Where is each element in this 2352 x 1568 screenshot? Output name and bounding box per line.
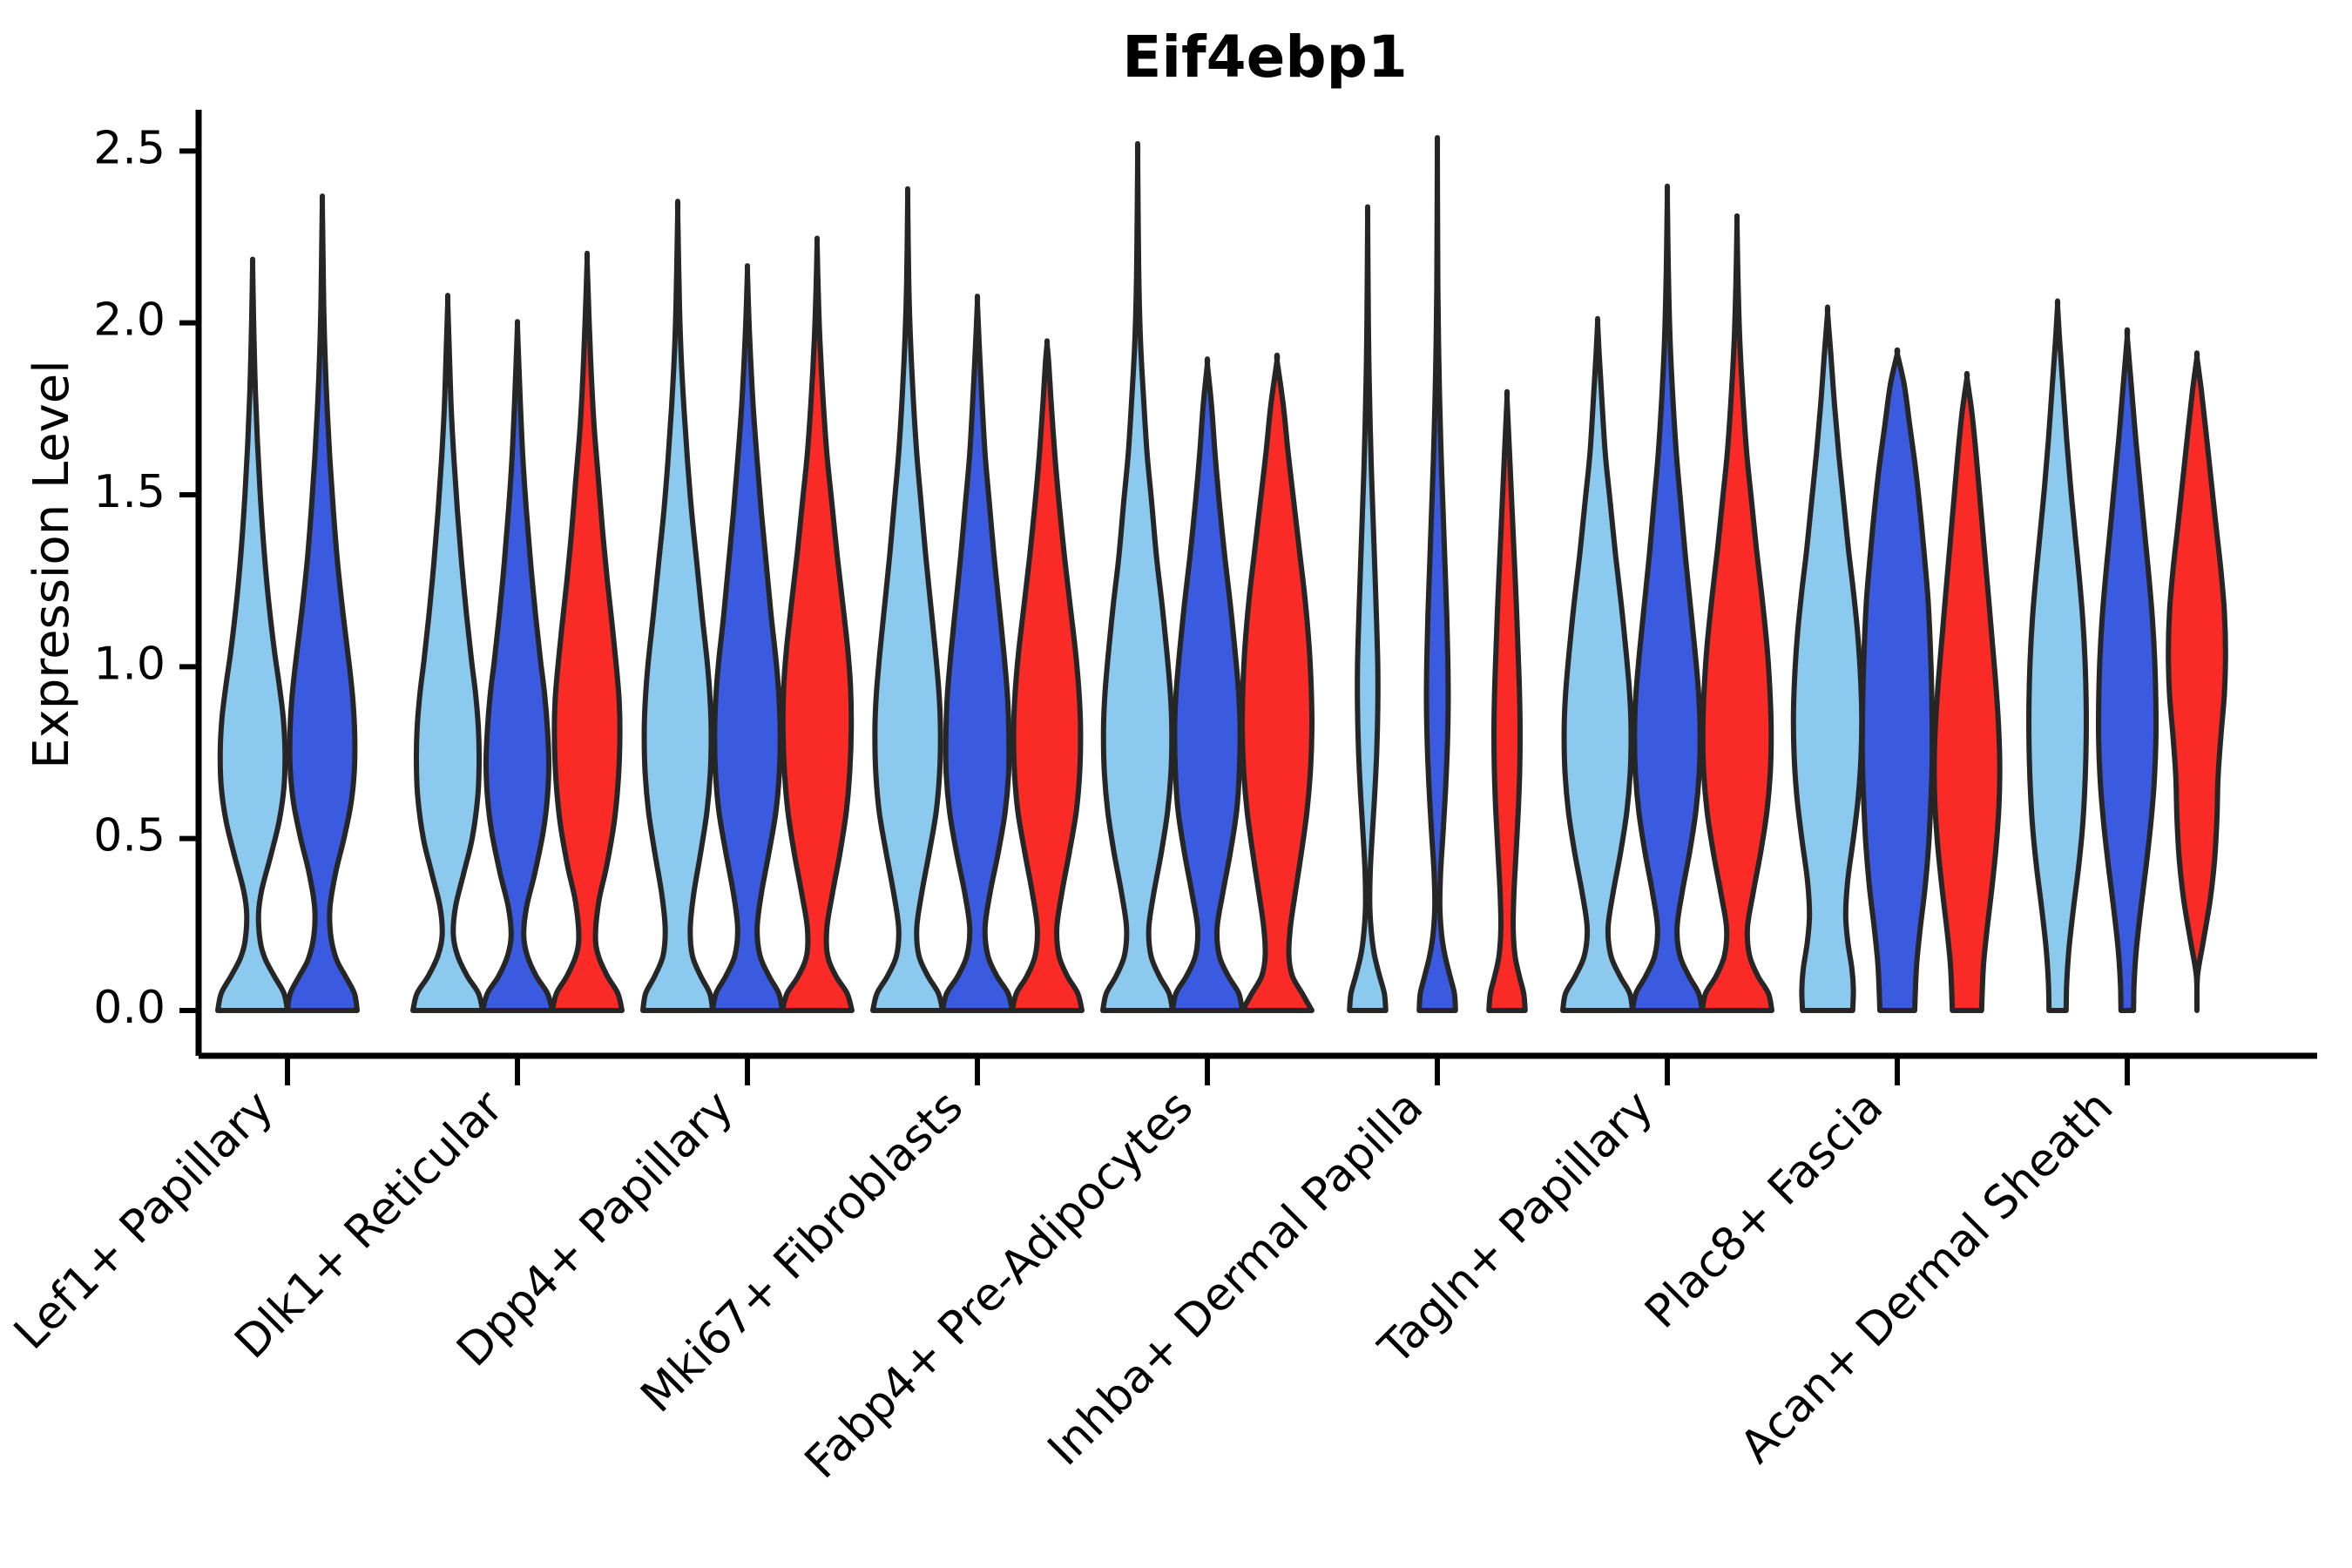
y-tick-label: 0.0: [93, 982, 166, 1034]
page-title: Eif4ebp1: [1122, 24, 1408, 91]
y-tick-label: 2.5: [93, 122, 166, 174]
violin-plot-figure: Eif4ebp1 Expression Level 0.00.51.01.52.…: [0, 0, 2352, 1568]
y-axis-title: Expression Level: [24, 360, 80, 769]
y-tick-label: 1.5: [93, 466, 166, 518]
y-tick-label: 2.0: [93, 294, 166, 347]
plot-canvas: Eif4ebp1 Expression Level 0.00.51.01.52.…: [0, 0, 2352, 1568]
y-tick-label: 0.5: [93, 810, 166, 862]
y-tick-label: 1.0: [93, 638, 166, 690]
